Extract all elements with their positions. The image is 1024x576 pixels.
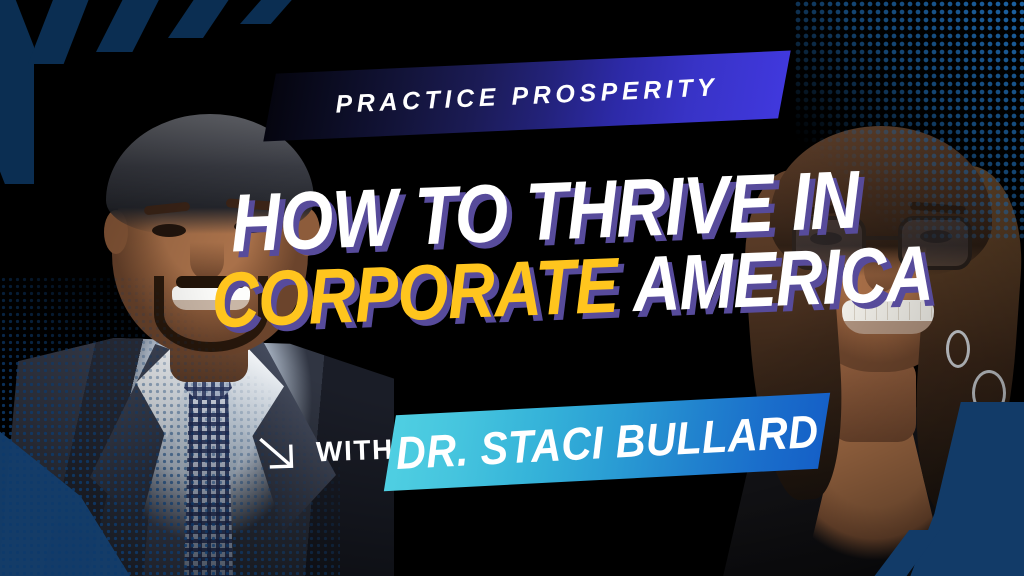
with-label: WITH (315, 434, 394, 469)
guest-earring (946, 330, 970, 368)
corner-chevron-top-left (0, 0, 34, 184)
guest-intro-row: WITH (257, 430, 394, 475)
episode-title-line-2: CORPORATE AMERICA (210, 247, 735, 334)
arrow-down-right-icon (257, 433, 300, 474)
guest-name-label: DR. STACI BULLARD (394, 404, 819, 480)
episode-title-word-america: AMERICA (631, 228, 934, 327)
episode-title-word-corporate: CORPORATE (210, 240, 619, 344)
thumbnail-canvas: PRACTICE PROSPERITY HOW TO THRIVE IN COR… (0, 0, 1024, 576)
episode-title: HOW TO THRIVE IN CORPORATE AMERICA (229, 167, 834, 334)
corner-chevron-top-left (168, 0, 238, 38)
corner-chevron-top-left (96, 0, 166, 52)
corner-chevron-top-left (240, 0, 304, 24)
host-eye-left (152, 224, 186, 237)
